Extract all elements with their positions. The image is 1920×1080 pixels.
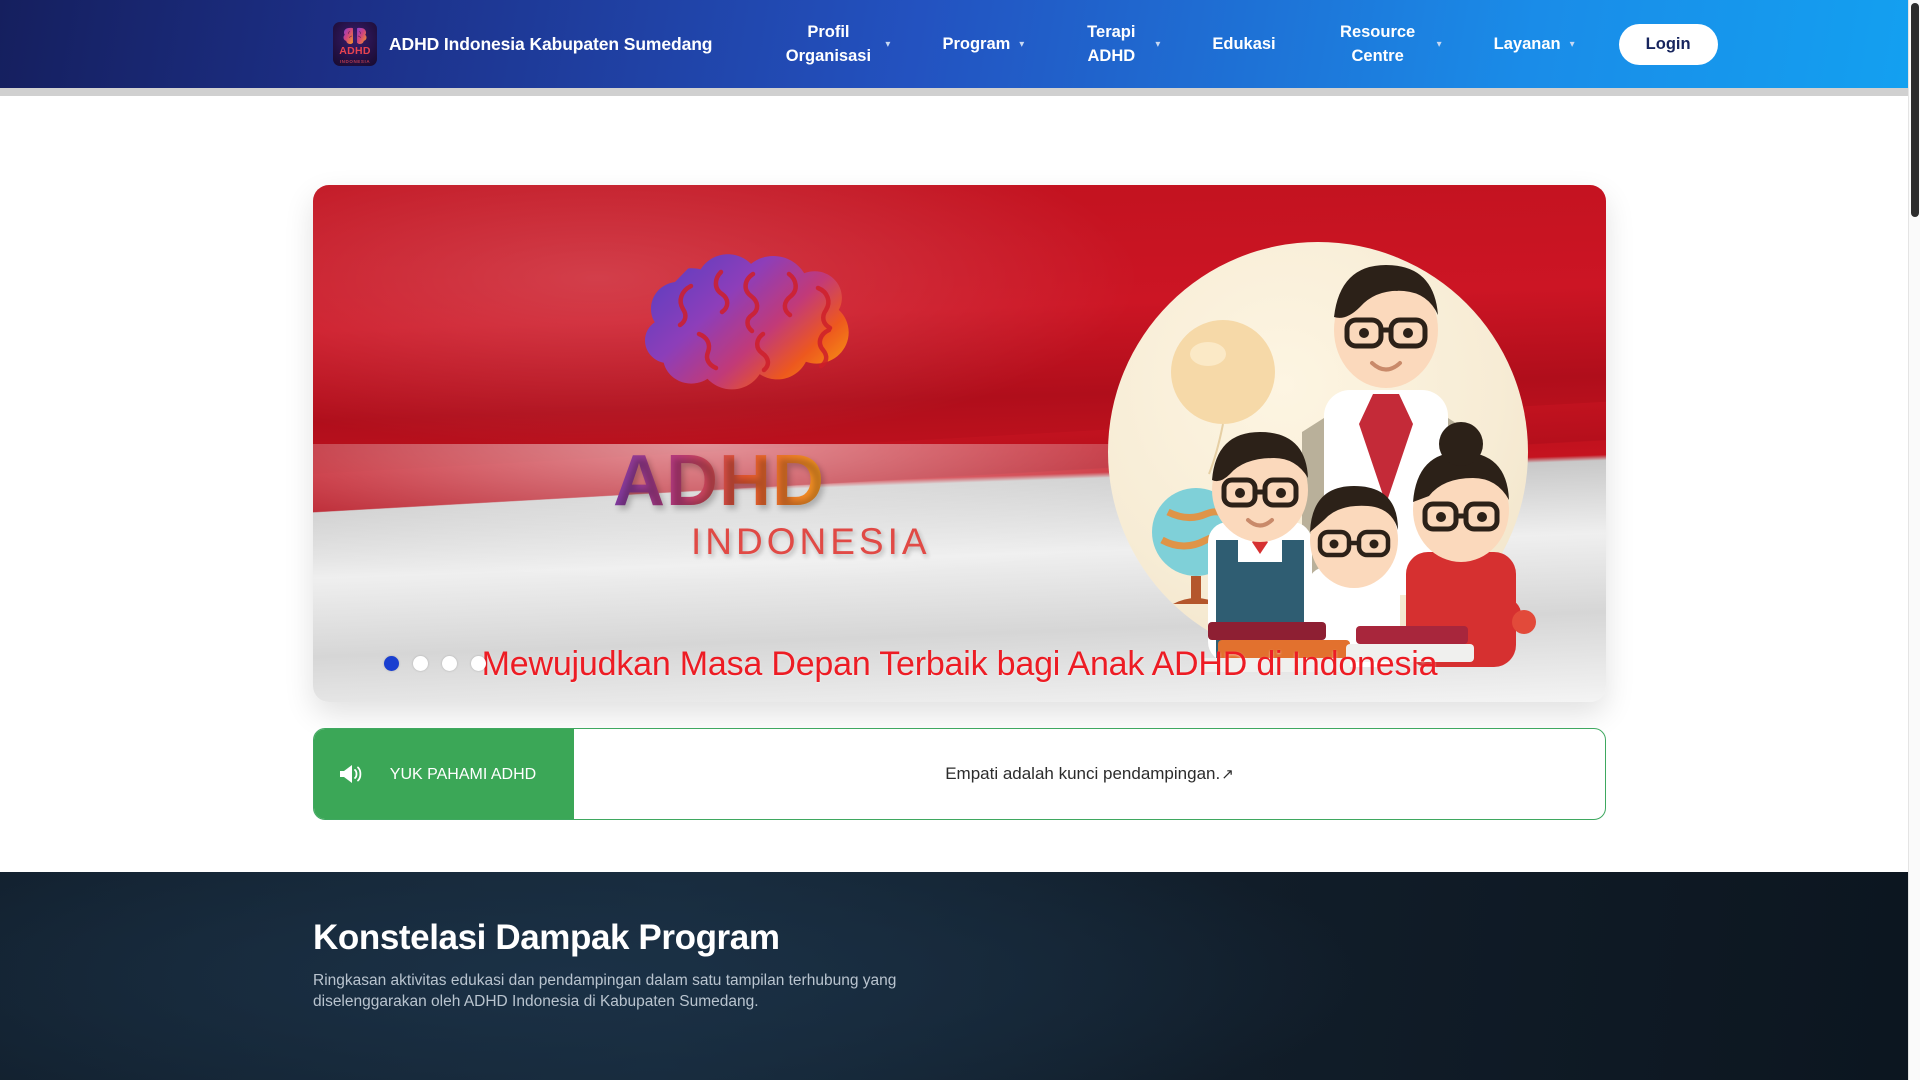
nav-label: Profil Organisasi (780, 20, 876, 68)
awareness-cta-banner[interactable]: YUK PAHAMI ADHD Empati adalah kunci pend… (313, 728, 1606, 820)
chevron-down-icon: ▾ (1019, 40, 1024, 50)
top-navigation-bar: ADHD INDONESIA ADHD Indonesia Kabupaten … (0, 0, 1908, 88)
chevron-down-icon: ▾ (1570, 40, 1575, 50)
nav-item-layanan[interactable]: Layanan ▾ (1468, 0, 1601, 88)
nav-item-program[interactable]: Program ▾ (916, 0, 1050, 88)
login-button[interactable]: Login (1619, 24, 1718, 65)
chevron-down-icon: ▾ (885, 40, 890, 50)
nav-item-edukasi[interactable]: Edukasi (1186, 0, 1301, 88)
chevron-down-icon: ▾ (1437, 40, 1442, 50)
hero-carousel[interactable]: ADHD INDONESIA (313, 185, 1606, 702)
impact-section-title: Konstelasi Dampak Program (313, 918, 953, 958)
carousel-dot-4[interactable] (471, 656, 486, 671)
carousel-dots[interactable] (384, 656, 486, 671)
hero-artwork-subtitle: INDONESIA (691, 521, 931, 563)
logo-indonesia-text: INDONESIA (333, 59, 377, 64)
cta-tag-label: YUK PAHAMI ADHD (376, 762, 550, 787)
page-scrollbar[interactable] (1908, 0, 1920, 1080)
carousel-dot-3[interactable] (442, 656, 457, 671)
brain-logo-icon: ADHD INDONESIA (333, 22, 377, 66)
impact-section-subtitle: Ringkasan aktivitas edukasi dan pendampi… (313, 970, 953, 1012)
family-illustration-icon (1088, 222, 1548, 672)
nav-label: Program (942, 32, 1010, 56)
brain-illustration-icon (603, 230, 933, 440)
brand-logo-link[interactable]: ADHD INDONESIA ADHD Indonesia Kabupaten … (333, 22, 712, 66)
impact-section-content: Konstelasi Dampak Program Ringkasan akti… (313, 918, 953, 1012)
nav-item-profil-organisasi[interactable]: Profil Organisasi ▾ (754, 0, 916, 88)
main-menu: Profil Organisasi ▾ Program ▾ Terapi ADH… (754, 0, 1717, 88)
logo-adhd-text: ADHD (333, 45, 377, 57)
external-link-arrow-icon: ↗ (1221, 765, 1234, 783)
cta-message-area[interactable]: Empati adalah kunci pendampingan. ↗ (574, 729, 1605, 819)
chevron-down-icon: ▾ (1155, 40, 1160, 50)
carousel-dot-2[interactable] (413, 656, 428, 671)
nav-item-resource-centre[interactable]: Resource Centre ▾ (1302, 0, 1468, 88)
brand-title: ADHD Indonesia Kabupaten Sumedang (389, 34, 712, 55)
impact-section: Konstelasi Dampak Program Ringkasan akti… (0, 872, 1908, 1080)
page-viewport: ADHD INDONESIA ADHD Indonesia Kabupaten … (0, 0, 1920, 1080)
nav-label: Terapi ADHD (1076, 20, 1146, 68)
cta-message: Empati adalah kunci pendampingan. (945, 764, 1220, 784)
nav-label: Resource Centre (1328, 20, 1428, 68)
navbar-underline (0, 88, 1908, 96)
carousel-dot-1[interactable] (384, 656, 399, 671)
cta-tag[interactable]: YUK PAHAMI ADHD (314, 729, 574, 819)
family-figures (1088, 222, 1548, 672)
hero-caption: Mewujudkan Masa Depan Terbaik bagi Anak … (313, 645, 1606, 684)
nav-label: Layanan (1494, 32, 1561, 56)
nav-label: Edukasi (1212, 32, 1275, 56)
megaphone-icon (338, 763, 362, 785)
scrollbar-thumb[interactable] (1911, 3, 1919, 217)
nav-item-terapi-adhd[interactable]: Terapi ADHD ▾ (1050, 0, 1186, 88)
hero-artwork-title: ADHD (613, 440, 825, 522)
